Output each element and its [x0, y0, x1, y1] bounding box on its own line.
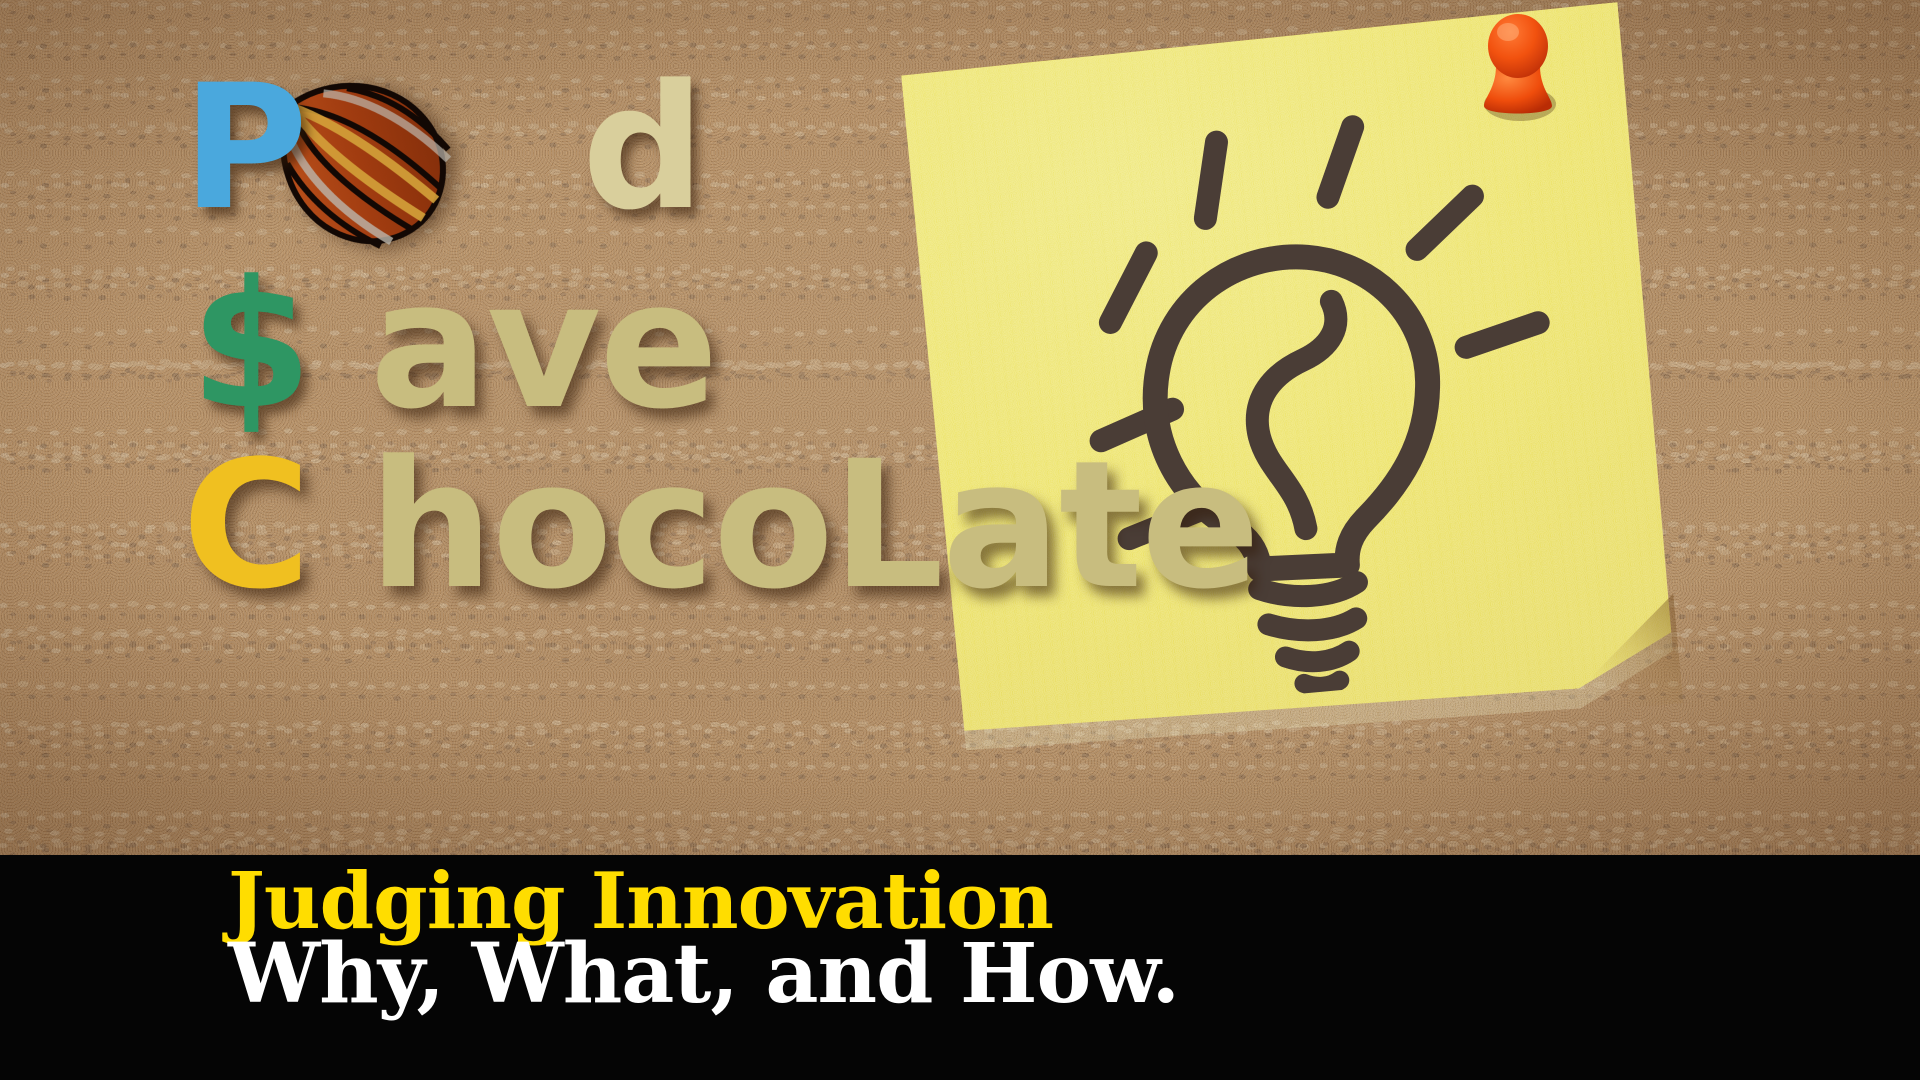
slide-canvas: P d $ ave C hocoLate Judging Innovation … — [0, 0, 1920, 1080]
push-pin-icon — [1462, 4, 1574, 122]
footer-title-block: Judging Innovation Why, What, and How. — [228, 865, 1179, 1015]
footer-bar: Judging Innovation Why, What, and How. — [0, 855, 1920, 1080]
footer-subtitle: Why, What, and How. — [228, 933, 1179, 1015]
